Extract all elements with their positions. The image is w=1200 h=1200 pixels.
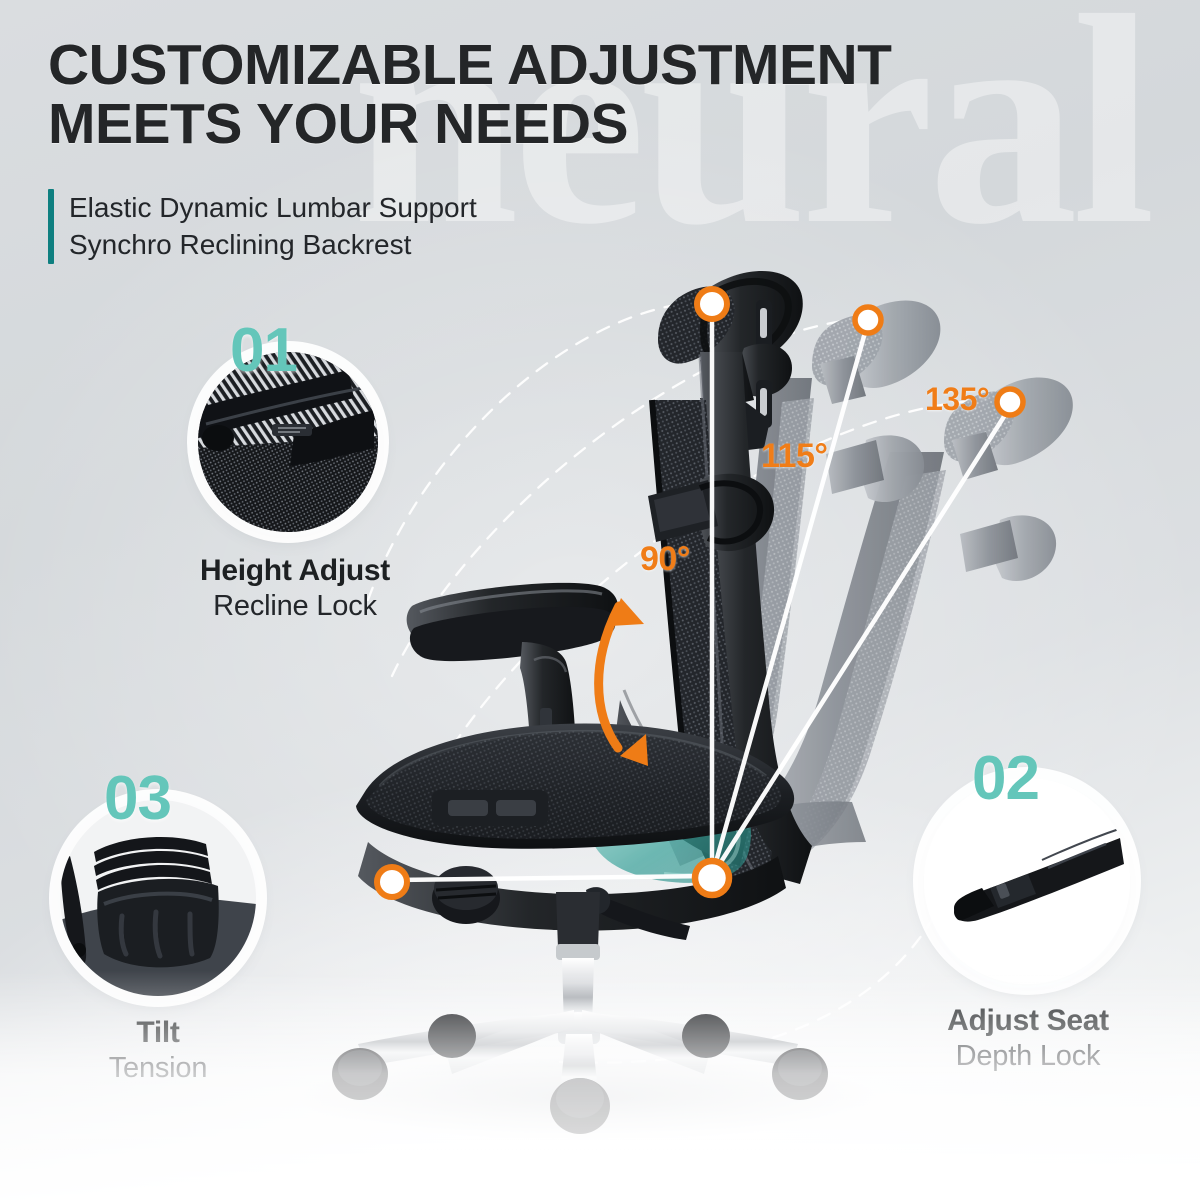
callout-height-adjust[interactable]: 01 bbox=[174, 352, 424, 624]
callout-caption-light-03: Tension bbox=[36, 1051, 280, 1086]
pivot-marker-115 bbox=[855, 307, 881, 333]
callout-caption-strong-01: Height Adjust bbox=[170, 554, 420, 589]
pivot-marker-seat-front bbox=[377, 867, 407, 897]
header-block: CUSTOMIZABLE ADJUSTMENT MEETS YOUR NEEDS… bbox=[48, 36, 1048, 264]
callout-adjust-seat-depth[interactable]: 02 Adjust Seat Depth Lock bbox=[906, 778, 1150, 1074]
callout-caption-light-01: Recline Lock bbox=[170, 589, 420, 624]
callout-caption-light-02: Depth Lock bbox=[906, 1039, 1150, 1074]
callout-caption-01: Height Adjust Recline Lock bbox=[170, 554, 420, 624]
subtitle-text: Elastic Dynamic Lumbar Support Synchro R… bbox=[69, 189, 477, 264]
callout-tilt-tension[interactable]: 03 bbox=[36, 800, 280, 1086]
callout-caption-strong-03: Tilt bbox=[36, 1016, 280, 1051]
pivot-marker-135 bbox=[997, 389, 1023, 415]
tilt-tension-knob bbox=[432, 866, 500, 924]
subtitle-block: Elastic Dynamic Lumbar Support Synchro R… bbox=[48, 189, 1048, 264]
callout-caption-strong-02: Adjust Seat bbox=[906, 1004, 1150, 1039]
subtitle-line-2: Synchro Reclining Backrest bbox=[69, 226, 477, 264]
subtitle-accent-bar bbox=[48, 189, 54, 264]
page-title-line-1: CUSTOMIZABLE ADJUSTMENT bbox=[48, 36, 1048, 95]
callout-number-02: 02 bbox=[972, 748, 1039, 810]
page-title-line-2: MEETS YOUR NEEDS bbox=[48, 95, 1048, 154]
angle-label-115: 115° bbox=[761, 437, 827, 476]
callout-caption-03: Tilt Tension bbox=[36, 1016, 280, 1086]
pivot-marker-90 bbox=[697, 289, 727, 319]
subtitle-line-1: Elastic Dynamic Lumbar Support bbox=[69, 189, 477, 227]
callout-number-03: 03 bbox=[104, 768, 171, 830]
callout-number-01: 01 bbox=[230, 320, 297, 382]
pivot-marker-seat-rear bbox=[695, 861, 729, 895]
angle-label-135: 135° bbox=[925, 381, 989, 418]
callout-caption-02: Adjust Seat Depth Lock bbox=[906, 1004, 1150, 1074]
angle-label-90: 90° bbox=[640, 540, 690, 579]
infographic-canvas: neural bbox=[0, 0, 1200, 1200]
